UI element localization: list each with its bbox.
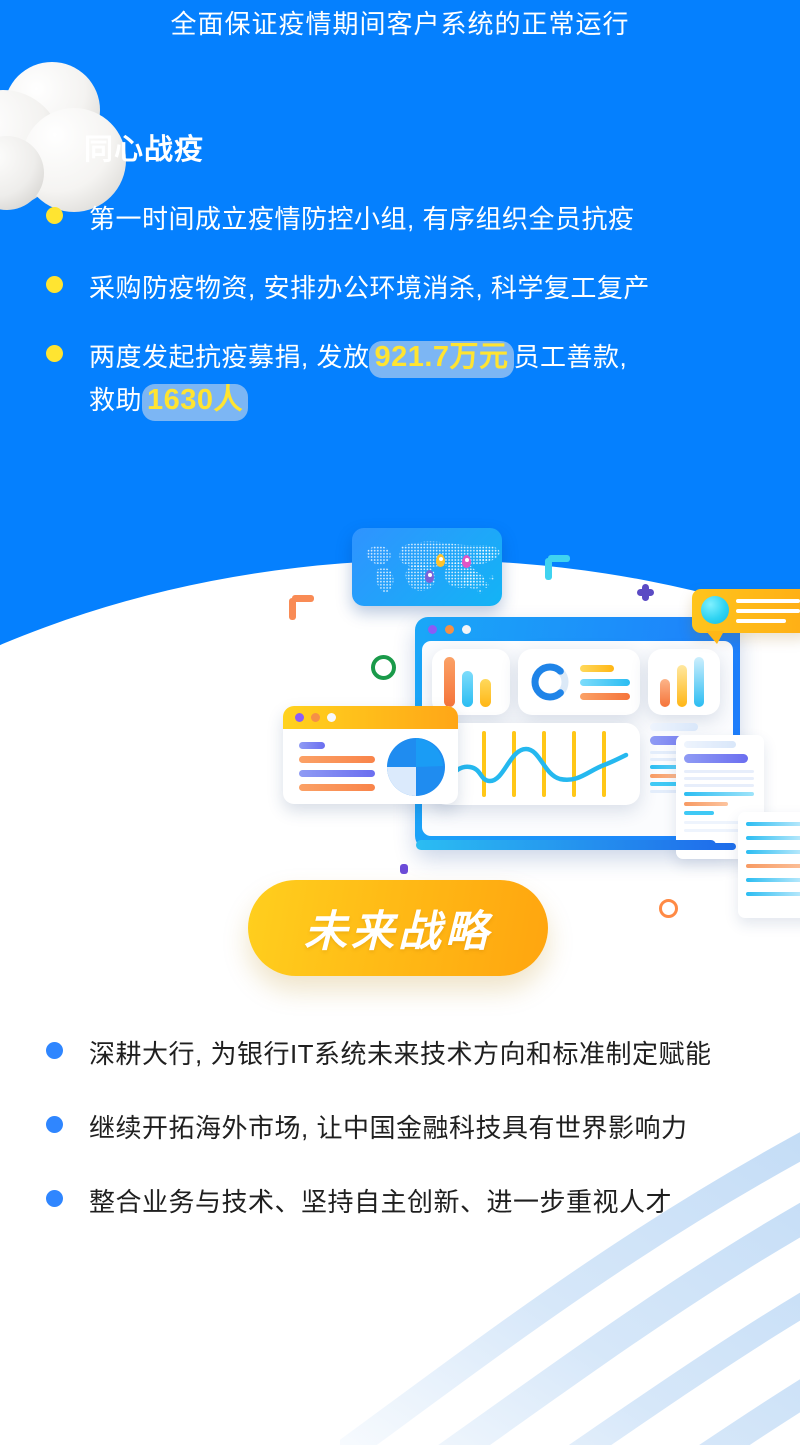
window-dot-purple-icon [428,625,437,634]
doc-line [746,836,800,840]
map-pin-magenta-icon [462,555,471,568]
bubble-line [736,619,786,623]
doc-line [684,770,754,773]
page-title: 全面保证疫情期间客户系统的正常运行 [0,4,800,41]
list-item: 采购防疫物资, 安排办公环境消杀, 科学复工复产 [46,267,776,310]
line-chart-icon [432,723,640,805]
list-item: 第一时间成立疫情防控小组, 有序组织全员抗疫 [46,198,776,241]
bullet-dot-icon [46,1116,63,1133]
doc-line [684,802,728,806]
bar-2 [462,671,473,707]
future-strategy-bullet-list: 深耕大行, 为银行IT系统未来技术方向和标准制定赋能 继续开拓海外市场, 让中国… [46,1032,766,1254]
map-pin-purple-icon [425,570,434,583]
future-strategy-badge[interactable]: 未来战略 [248,880,548,976]
speech-bubble [692,589,800,633]
window-title-bar [283,706,458,729]
purple-dot-icon [400,864,408,874]
dashboard-base-bar [416,840,716,850]
window-dot-orange-icon [445,625,454,634]
bar-1 [444,657,455,707]
world-map-card [352,528,502,606]
donation-prefix-text: 两度发起抗疫募捐, 发放 [89,342,369,372]
bullet-dot-icon [46,345,63,362]
orange-ring-icon [659,899,678,918]
doc-line [746,822,800,826]
bullet-dot-icon [46,1042,63,1059]
doc-line [684,777,754,780]
list-item-label: 继续开拓海外市场, 让中国金融科技具有世界影响力 [89,1106,687,1150]
pie-chart-window [283,706,458,804]
bullet-dot-icon [46,1190,63,1207]
list-item: 整合业务与技术、坚持自主创新、进一步重视人才 [46,1180,766,1224]
mini-bar-2 [677,665,687,707]
bullet-dot-icon [46,276,63,293]
doc-line [746,850,800,854]
bullet-dot-icon [46,207,63,224]
bar-3 [480,679,491,707]
doc-line [684,754,748,763]
content-line [299,756,375,763]
donation-middle-text: 员工善款, [514,342,628,372]
window-dot-orange-icon [311,713,320,722]
list-item-label: 深耕大行, 为银行IT系统未来技术方向和标准制定赋能 [89,1032,712,1076]
legend-line-cyan [580,679,630,686]
list-item-label: 第一时间成立疫情防控小组, 有序组织全员抗疫 [89,198,634,241]
infographic-canvas: 全面保证疫情期间客户系统的正常运行 同心战疫 第一时间成立疫情防控小组, 有序组… [0,0,800,1445]
list-item: 继续开拓海外市场, 让中国金融科技具有世界影响力 [46,1106,766,1150]
world-map-dots-icon [352,528,502,606]
line-chart-widget [432,723,640,805]
doc-line [684,784,754,787]
list-item-label: 采购防疫物资, 安排办公环境消杀, 科学复工复产 [89,267,650,310]
bubble-line [736,609,800,613]
mini-bar-chart-widget [648,649,720,715]
purple-quad-star-icon [637,584,654,601]
aid-prefix-text: 救助 [89,385,142,415]
window-dot-white-icon [327,713,336,722]
content-line [299,742,325,749]
list-item: 两度发起抗疫募捐, 发放921.7万元员工善款,救助1630人 [46,336,776,422]
doc-line [746,892,800,896]
aid-count-highlight: 1630人 [142,379,248,422]
bubble-avatar-icon [701,596,729,624]
list-item: 深耕大行, 为银行IT系统未来技术方向和标准制定赋能 [46,1032,766,1076]
side-line [650,723,698,731]
pie-chart-icon [385,736,447,798]
future-strategy-label: 未来战略 [304,897,492,959]
donation-amount-highlight: 921.7万元 [369,336,513,379]
window-dot-white-icon [462,625,471,634]
donut-chart-widget [518,649,640,715]
doc-line [746,878,800,882]
donut-chart-icon [528,660,572,704]
doc-line [746,864,800,868]
doc-line [684,741,736,748]
content-line [299,784,375,791]
doc-line [684,811,714,815]
section-heading-fight-epidemic: 同心战疫 [84,126,204,168]
list-item-label: 整合业务与技术、坚持自主创新、进一步重视人才 [89,1180,672,1224]
mini-bar-1 [660,679,670,707]
map-pin-yellow-icon [436,554,445,567]
document-card-front [738,812,800,918]
bubble-line [736,599,800,603]
doc-line [684,792,754,796]
content-line [299,770,375,777]
green-ring-icon [371,655,396,680]
window-dot-purple-icon [295,713,304,722]
epidemic-bullet-list: 第一时间成立疫情防控小组, 有序组织全员抗疫 采购防疫物资, 安排办公环境消杀,… [46,198,776,448]
list-item-label-rich: 两度发起抗疫募捐, 发放921.7万元员工善款,救助1630人 [89,336,627,422]
mini-bar-3 [694,657,704,707]
legend-line-yellow [580,665,614,672]
legend-line-orange [580,693,630,700]
